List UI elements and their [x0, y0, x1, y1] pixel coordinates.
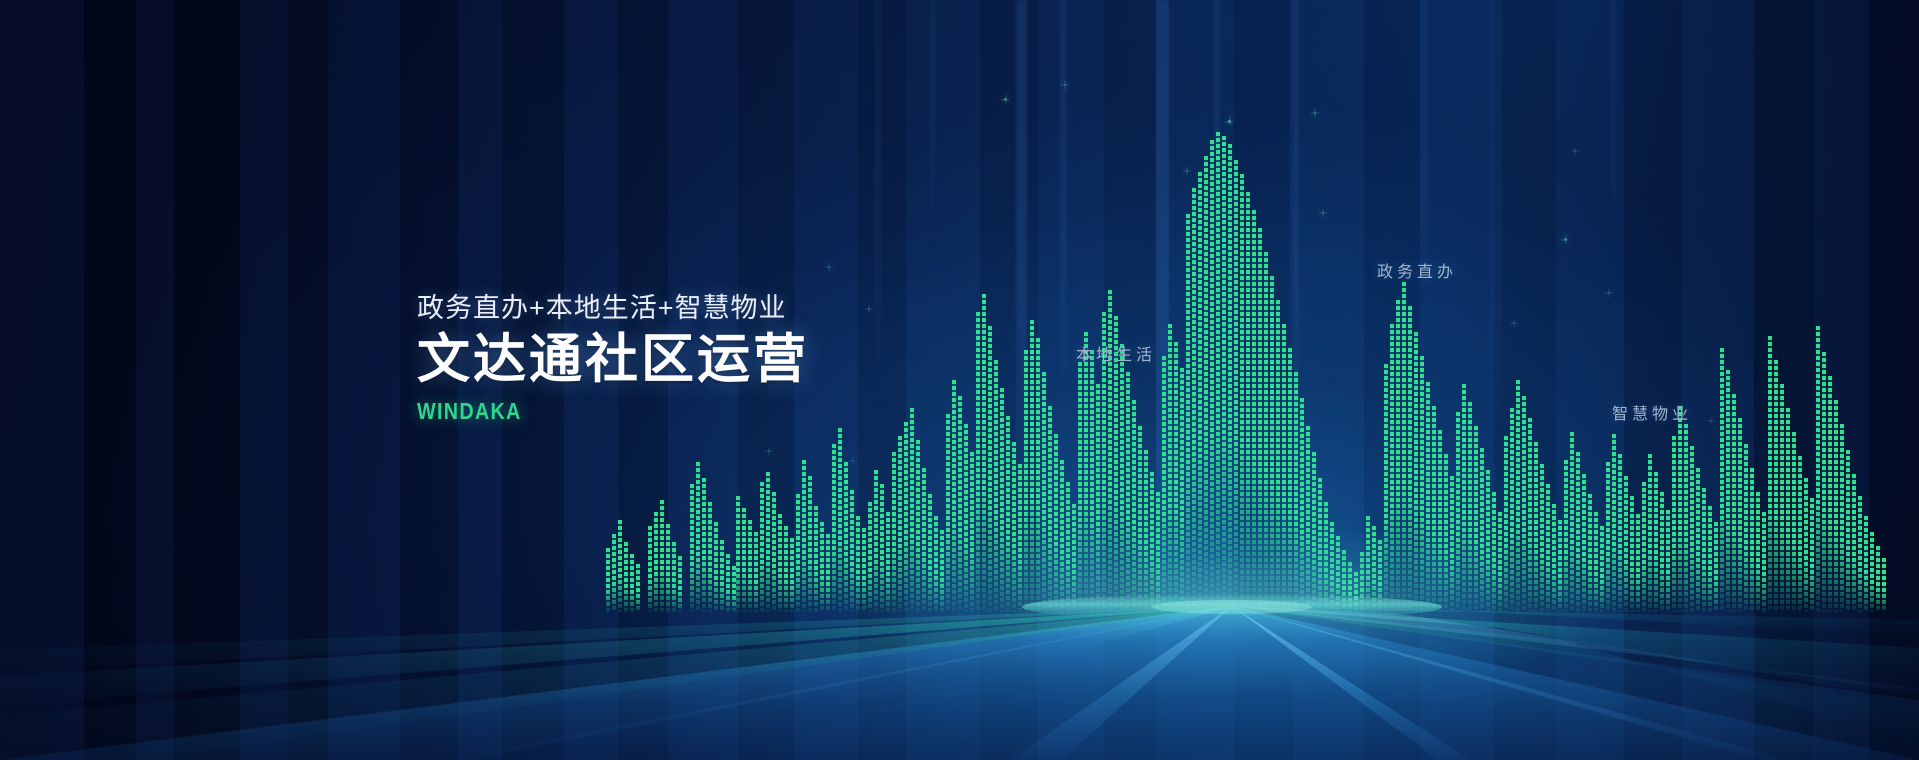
skyline-bar — [886, 512, 890, 612]
skyline-bar-dots — [1672, 436, 1676, 612]
skyline-bar-dots — [1234, 160, 1238, 612]
skyline-bar-dots — [1828, 376, 1832, 612]
skyline-bar — [1636, 514, 1640, 612]
skyline-bar — [952, 380, 956, 612]
skyline-bar-dots — [1654, 472, 1658, 612]
skyline-bar-dots — [766, 472, 770, 612]
skyline-bar — [994, 360, 998, 612]
skyline-bar — [988, 326, 992, 612]
skyline-bar — [1300, 398, 1304, 612]
skyline-bar-dots — [648, 526, 652, 612]
hero-subtitle: 政务直办+本地生活+智慧物业 — [417, 292, 809, 324]
skyline-bar — [1780, 384, 1784, 612]
skyline-bar — [1468, 402, 1472, 612]
skyline-bar — [1408, 306, 1412, 612]
skyline-bar-dots — [1054, 434, 1058, 612]
sparkle-particle — [868, 308, 870, 310]
skyline-bar-dots — [904, 422, 908, 612]
skyline-bar — [1684, 424, 1688, 612]
skyline-bar — [1624, 476, 1628, 612]
skyline-bar — [778, 514, 782, 612]
skyline-bar — [928, 494, 932, 612]
skyline-bar — [808, 476, 812, 612]
skyline-bar — [1762, 512, 1766, 612]
skyline-bar-dots — [790, 538, 794, 612]
skyline-bar-dots — [1666, 510, 1670, 612]
skyline-bar-dots — [1516, 380, 1520, 612]
skyline-bar-dots — [702, 478, 706, 612]
skyline-bar-dots — [1852, 474, 1856, 612]
skyline-bar — [1210, 140, 1214, 612]
skyline-bar — [1882, 558, 1886, 612]
skyline-bar — [1432, 406, 1436, 612]
skyline-bar-dots — [964, 424, 968, 612]
skyline-bar-dots — [1012, 442, 1016, 612]
skyline-bar-dots — [1792, 432, 1796, 612]
skyline-bar-dots — [1534, 442, 1538, 612]
skyline-bar-dots — [1036, 338, 1040, 612]
skyline-bar-dots — [708, 502, 712, 612]
skyline-bar — [618, 520, 622, 612]
skyline-bar-dots — [720, 540, 724, 612]
skyline-bar — [1750, 468, 1754, 612]
skyline-bar-dots — [1378, 540, 1382, 612]
background-stripe — [174, 0, 240, 760]
skyline-bar-dots — [1468, 402, 1472, 612]
skyline-bar — [1828, 376, 1832, 612]
skyline-bar — [1474, 426, 1478, 612]
skyline-bar-dots — [934, 516, 938, 612]
skyline-bar-dots — [1762, 512, 1766, 612]
skyline-bar — [868, 502, 872, 612]
light-beam — [930, 0, 935, 250]
skyline-bar-dots — [1408, 306, 1412, 612]
skyline-bar — [1114, 316, 1118, 612]
skyline-bar — [1492, 492, 1496, 612]
background-stripe — [858, 0, 906, 760]
skyline-bar — [1600, 526, 1604, 612]
skyline-bar-dots — [1210, 140, 1214, 612]
skyline-bar — [1006, 416, 1010, 612]
sparkle-particle — [1470, 440, 1472, 442]
skyline-bar — [1324, 502, 1328, 612]
light-beam — [1420, 0, 1428, 300]
light-beam — [1490, 0, 1502, 470]
skyline-bar-dots — [772, 492, 776, 612]
skyline-bar-dots — [1564, 460, 1568, 612]
sparkle-particle — [1228, 120, 1231, 123]
skyline-bar-dots — [1078, 362, 1082, 612]
background-stripe — [1234, 0, 1294, 760]
sparkle-particle — [1064, 84, 1066, 86]
sparkle-particle — [1322, 212, 1324, 214]
skyline-bar — [1462, 384, 1466, 612]
skyline-bar — [784, 526, 788, 612]
skyline-bar-dots — [1474, 426, 1478, 612]
skyline-bar — [766, 472, 770, 612]
skyline-bar — [1120, 344, 1124, 612]
skyline-bar — [1804, 478, 1808, 612]
skyline-bar-dots — [1084, 332, 1088, 612]
background-stripe — [906, 0, 980, 760]
skyline-bar — [1102, 312, 1106, 612]
skyline-bar — [678, 556, 682, 612]
skyline-bar-dots — [1510, 408, 1514, 612]
skyline-bar-dots — [1030, 320, 1034, 612]
skyline-bar-dots — [808, 476, 812, 612]
skyline-bar — [1276, 300, 1280, 612]
skyline-bar-dots — [1876, 546, 1880, 612]
background-stripe — [1156, 0, 1234, 760]
skyline-bar-dots — [922, 468, 926, 612]
sparkle-particle — [1004, 98, 1007, 101]
skyline-bar — [690, 484, 694, 612]
skyline-bar — [772, 492, 776, 612]
skyline-bar — [1540, 464, 1544, 612]
skyline-bar — [1366, 516, 1370, 612]
background-stripe — [458, 0, 502, 760]
skyline-bar-dots — [1816, 326, 1820, 612]
skyline-bar-dots — [1732, 394, 1736, 612]
skyline-bar — [1498, 512, 1502, 612]
background-stripe — [1420, 0, 1494, 760]
skyline-bar-dots — [1144, 450, 1148, 612]
skyline-bar-dots — [1294, 372, 1298, 612]
sparkle-particle — [958, 398, 960, 400]
background-stripe — [1556, 0, 1624, 760]
skyline-bar — [1042, 372, 1046, 612]
skyline-bar-dots — [1522, 396, 1526, 612]
light-beam — [1290, 0, 1299, 500]
background-stripe — [668, 0, 738, 760]
dotted-skyline-chart — [0, 0, 1919, 760]
skyline-bar — [1018, 464, 1022, 612]
skyline-bar-dots — [1810, 498, 1814, 612]
skyline-bar-dots — [886, 512, 890, 612]
skyline-bar — [660, 500, 664, 612]
skyline-bar — [1792, 432, 1796, 612]
skyline-bar — [1606, 462, 1610, 612]
sparkle-particle — [1564, 238, 1567, 241]
skyline-bar-dots — [1336, 536, 1340, 612]
skyline-bar — [1480, 448, 1484, 612]
skyline-bar — [844, 462, 848, 612]
skyline-bar — [1024, 350, 1028, 612]
background-stripe — [1364, 0, 1420, 760]
skyline-bar-dots — [802, 460, 806, 612]
skyline-bar-dots — [1390, 324, 1394, 612]
light-beam — [1156, 0, 1169, 620]
skyline-bar — [1516, 380, 1520, 612]
skyline-bar-dots — [1312, 452, 1316, 612]
skyline-bar — [1258, 228, 1262, 612]
skyline-bar — [1000, 388, 1004, 612]
skyline-bar — [1174, 342, 1178, 612]
skyline-bar — [1708, 506, 1712, 612]
skyline-bar-dots — [1462, 384, 1466, 612]
skyline-bar — [732, 566, 736, 612]
skyline-bar-dots — [1504, 436, 1508, 612]
skyline-bar — [862, 528, 866, 612]
skyline-bar-dots — [1174, 342, 1178, 612]
skyline-bar-dots — [1528, 418, 1532, 612]
skyline-bar — [1282, 324, 1286, 612]
skyline-bar — [970, 452, 974, 612]
skyline-bar-dots — [1492, 492, 1496, 612]
skyline-bar — [1246, 192, 1250, 612]
skyline-bar-dots — [1204, 156, 1208, 612]
skyline-bar-dots — [624, 542, 628, 612]
skyline-bar-dots — [916, 440, 920, 612]
skyline-bar-dots — [678, 556, 682, 612]
sparkle-particles — [0, 0, 1919, 760]
skyline-bar — [1012, 442, 1016, 612]
skyline-bar — [1228, 144, 1232, 612]
skyline-bar — [1192, 188, 1196, 612]
skyline-bar — [1666, 510, 1670, 612]
skyline-bar — [1546, 484, 1550, 612]
skyline-bar-dots — [606, 548, 610, 612]
background-stripe — [1682, 0, 1754, 760]
background-stripe — [84, 0, 136, 760]
skyline-bar-dots — [1330, 522, 1334, 612]
skyline-label-1: 本地生活 — [1076, 341, 1156, 365]
skyline-bar — [1822, 352, 1826, 612]
background-stripe — [0, 0, 84, 760]
skyline-bar — [814, 506, 818, 612]
skyline-bar — [1582, 474, 1586, 612]
skyline-bar-dots — [732, 566, 736, 612]
skyline-bar — [1510, 408, 1514, 612]
skyline-bar-dots — [714, 522, 718, 612]
skyline-bar-dots — [1246, 192, 1250, 612]
skyline-bar-dots — [1642, 482, 1646, 612]
background-stripe — [400, 0, 458, 760]
skyline-bar-dots — [844, 462, 848, 612]
skyline-bar — [630, 554, 634, 612]
skyline-bar — [1810, 498, 1814, 612]
skyline-bar — [612, 534, 616, 612]
skyline-bar — [790, 538, 794, 612]
skyline-bar — [1168, 324, 1172, 612]
skyline-bar-dots — [1690, 446, 1694, 612]
skyline-bar-dots — [976, 312, 980, 612]
skyline-bar-dots — [1414, 332, 1418, 612]
skyline-bar — [1852, 474, 1856, 612]
skyline-bar — [1612, 434, 1616, 612]
skyline-bar-dots — [862, 528, 866, 612]
sparkle-particle — [1186, 170, 1188, 172]
skyline-bar-dots — [1720, 348, 1724, 612]
skyline-bar-dots — [726, 554, 730, 612]
skyline-bar — [820, 522, 824, 612]
brand-wordmark: WINDAKA — [417, 398, 754, 425]
skyline-bar-dots — [1798, 456, 1802, 612]
skyline-bar — [982, 294, 986, 612]
skyline-bar-dots — [1570, 432, 1574, 612]
skyline-bar-dots — [760, 482, 764, 612]
skyline-bar — [1036, 338, 1040, 612]
skyline-bar — [1426, 382, 1430, 612]
skyline-bar-dots — [1768, 336, 1772, 612]
skyline-bar — [1486, 470, 1490, 612]
skyline-bar-dots — [1180, 368, 1184, 612]
skyline-bar-dots — [1486, 470, 1490, 612]
skyline-bar-dots — [1858, 496, 1862, 612]
skyline-bar-dots — [1498, 512, 1502, 612]
horizon-glow — [0, 486, 1919, 706]
skyline-bar-dots — [1594, 512, 1598, 612]
skyline-bar — [1150, 472, 1154, 612]
skyline-bar — [1576, 452, 1580, 612]
skyline-bar — [826, 534, 830, 612]
skyline-bar — [1702, 488, 1706, 612]
skyline-bar-dots — [880, 484, 884, 612]
skyline-bar-dots — [1102, 312, 1106, 612]
skyline-bar — [696, 462, 700, 612]
skyline-bar-dots — [1276, 300, 1280, 612]
skyline-bar — [1396, 300, 1400, 612]
skyline-bar — [1450, 476, 1454, 612]
skyline-bar-dots — [820, 522, 824, 612]
hero-banner: 政务直办+本地生活+智慧物业 文达通社区运营 WINDAKA 本地生活政务直办智… — [0, 0, 1919, 760]
skyline-bar-dots — [1090, 350, 1094, 612]
skyline-bar — [892, 452, 896, 612]
skyline-bar — [1348, 562, 1352, 612]
skyline-bar-dots — [1306, 426, 1310, 612]
skyline-bar-dots — [1168, 324, 1172, 612]
skyline-bar — [958, 396, 962, 612]
skyline-label-2: 政务直办 — [1377, 258, 1457, 282]
skyline-bar-dots — [1396, 300, 1400, 612]
skyline-bar — [1858, 496, 1862, 612]
skyline-bar-dots — [1540, 464, 1544, 612]
skyline-bar — [748, 520, 752, 612]
skyline-bar-dots — [1120, 344, 1124, 612]
skyline-bar — [1558, 520, 1562, 612]
skyline-bar — [1876, 546, 1880, 612]
skyline-bar — [720, 540, 724, 612]
sparkle-particle — [1574, 150, 1576, 152]
skyline-bar — [726, 554, 730, 612]
skyline-bar — [1744, 444, 1748, 612]
skyline-bar — [1522, 396, 1526, 612]
skyline-bar-dots — [1558, 520, 1562, 612]
skyline-bar-dots — [1066, 482, 1070, 612]
skyline-bar — [838, 428, 842, 612]
skyline-bar — [1756, 492, 1760, 612]
skyline-bar-dots — [1318, 478, 1322, 612]
skyline-label-3: 智慧物业 — [1612, 400, 1692, 424]
skyline-bar-dots — [1432, 406, 1436, 612]
skyline-bar-dots — [958, 396, 962, 612]
skyline-bar-dots — [1018, 464, 1022, 612]
skyline-bar-dots — [1132, 400, 1136, 612]
skyline-bar-dots — [1756, 492, 1760, 612]
skyline-bar — [1774, 360, 1778, 612]
skyline-bar — [1138, 426, 1142, 612]
skyline-bar-dots — [1156, 492, 1160, 612]
skyline-bar-dots — [1636, 514, 1640, 612]
skyline-bar-dots — [1588, 494, 1592, 612]
skyline-bar — [1570, 432, 1574, 612]
skyline-bar-dots — [1162, 356, 1166, 612]
skyline-bar — [1162, 356, 1166, 612]
background-stripe — [502, 0, 564, 760]
skyline-bar-dots — [1630, 496, 1634, 612]
skyline-bar-dots — [868, 502, 872, 612]
skyline-bar-dots — [1042, 372, 1046, 612]
skyline-bar-dots — [1324, 502, 1328, 612]
sparkle-particle — [852, 460, 854, 462]
skyline-bar-dots — [696, 462, 700, 612]
skyline-bar-dots — [1048, 406, 1052, 612]
skyline-bar-dots — [874, 470, 878, 612]
skyline-bar-dots — [1780, 384, 1784, 612]
skyline-bar — [1060, 460, 1064, 612]
skyline-bar-dots — [1138, 426, 1142, 612]
skyline-bar — [1642, 482, 1646, 612]
skyline-bar — [1252, 210, 1256, 612]
skyline-bar — [1870, 532, 1874, 612]
skyline-bar-dots — [1282, 324, 1286, 612]
skyline-bar-dots — [898, 436, 902, 612]
skyline-bar-dots — [1228, 144, 1232, 612]
skyline-bar-dots — [1618, 454, 1622, 612]
skyline-bar — [702, 478, 706, 612]
skyline-bar — [1330, 522, 1334, 612]
light-beam — [1060, 0, 1067, 430]
skyline-bar — [1108, 290, 1112, 612]
background-stripe — [1038, 0, 1104, 760]
skyline-bar-dots — [1402, 282, 1406, 612]
skyline-bar-dots — [1222, 136, 1226, 612]
skyline-bar-dots — [1198, 172, 1202, 612]
background-stripe — [1869, 0, 1919, 760]
skyline-bar-dots — [1750, 468, 1754, 612]
skyline-bar-dots — [1126, 372, 1130, 612]
skyline-bar — [1696, 468, 1700, 612]
skyline-bar-dots — [742, 508, 746, 612]
skyline-bar — [1564, 460, 1568, 612]
skyline-bar — [1096, 384, 1100, 612]
skyline-bar-dots — [1354, 572, 1358, 612]
skyline-bar — [1132, 400, 1136, 612]
sparkle-particle — [828, 266, 830, 268]
skyline-bar — [1726, 370, 1730, 612]
background-stripe — [1814, 0, 1869, 760]
skyline-bar-dots — [1552, 504, 1556, 612]
skyline-bar — [1198, 172, 1202, 612]
skyline-bar-dots — [1612, 434, 1616, 612]
skyline-bar — [1234, 160, 1238, 612]
skyline-bar — [1054, 434, 1058, 612]
background-stripe — [136, 0, 174, 760]
skyline-bar-dots — [1360, 552, 1364, 612]
skyline-bar — [648, 526, 652, 612]
skyline-bar — [1552, 504, 1556, 612]
skyline-bar-dots — [1270, 276, 1274, 612]
skyline-bar-dots — [1576, 452, 1580, 612]
skyline-bar-dots — [1864, 516, 1868, 612]
skyline-bar-dots — [1648, 454, 1652, 612]
skyline-bar-dots — [1264, 252, 1268, 612]
skyline-bar — [636, 564, 640, 612]
skyline-bar-dots — [1072, 504, 1076, 612]
skyline-bar-dots — [1702, 488, 1706, 612]
skyline-bar-dots — [1444, 454, 1448, 612]
skyline-bar-dots — [1288, 348, 1292, 612]
